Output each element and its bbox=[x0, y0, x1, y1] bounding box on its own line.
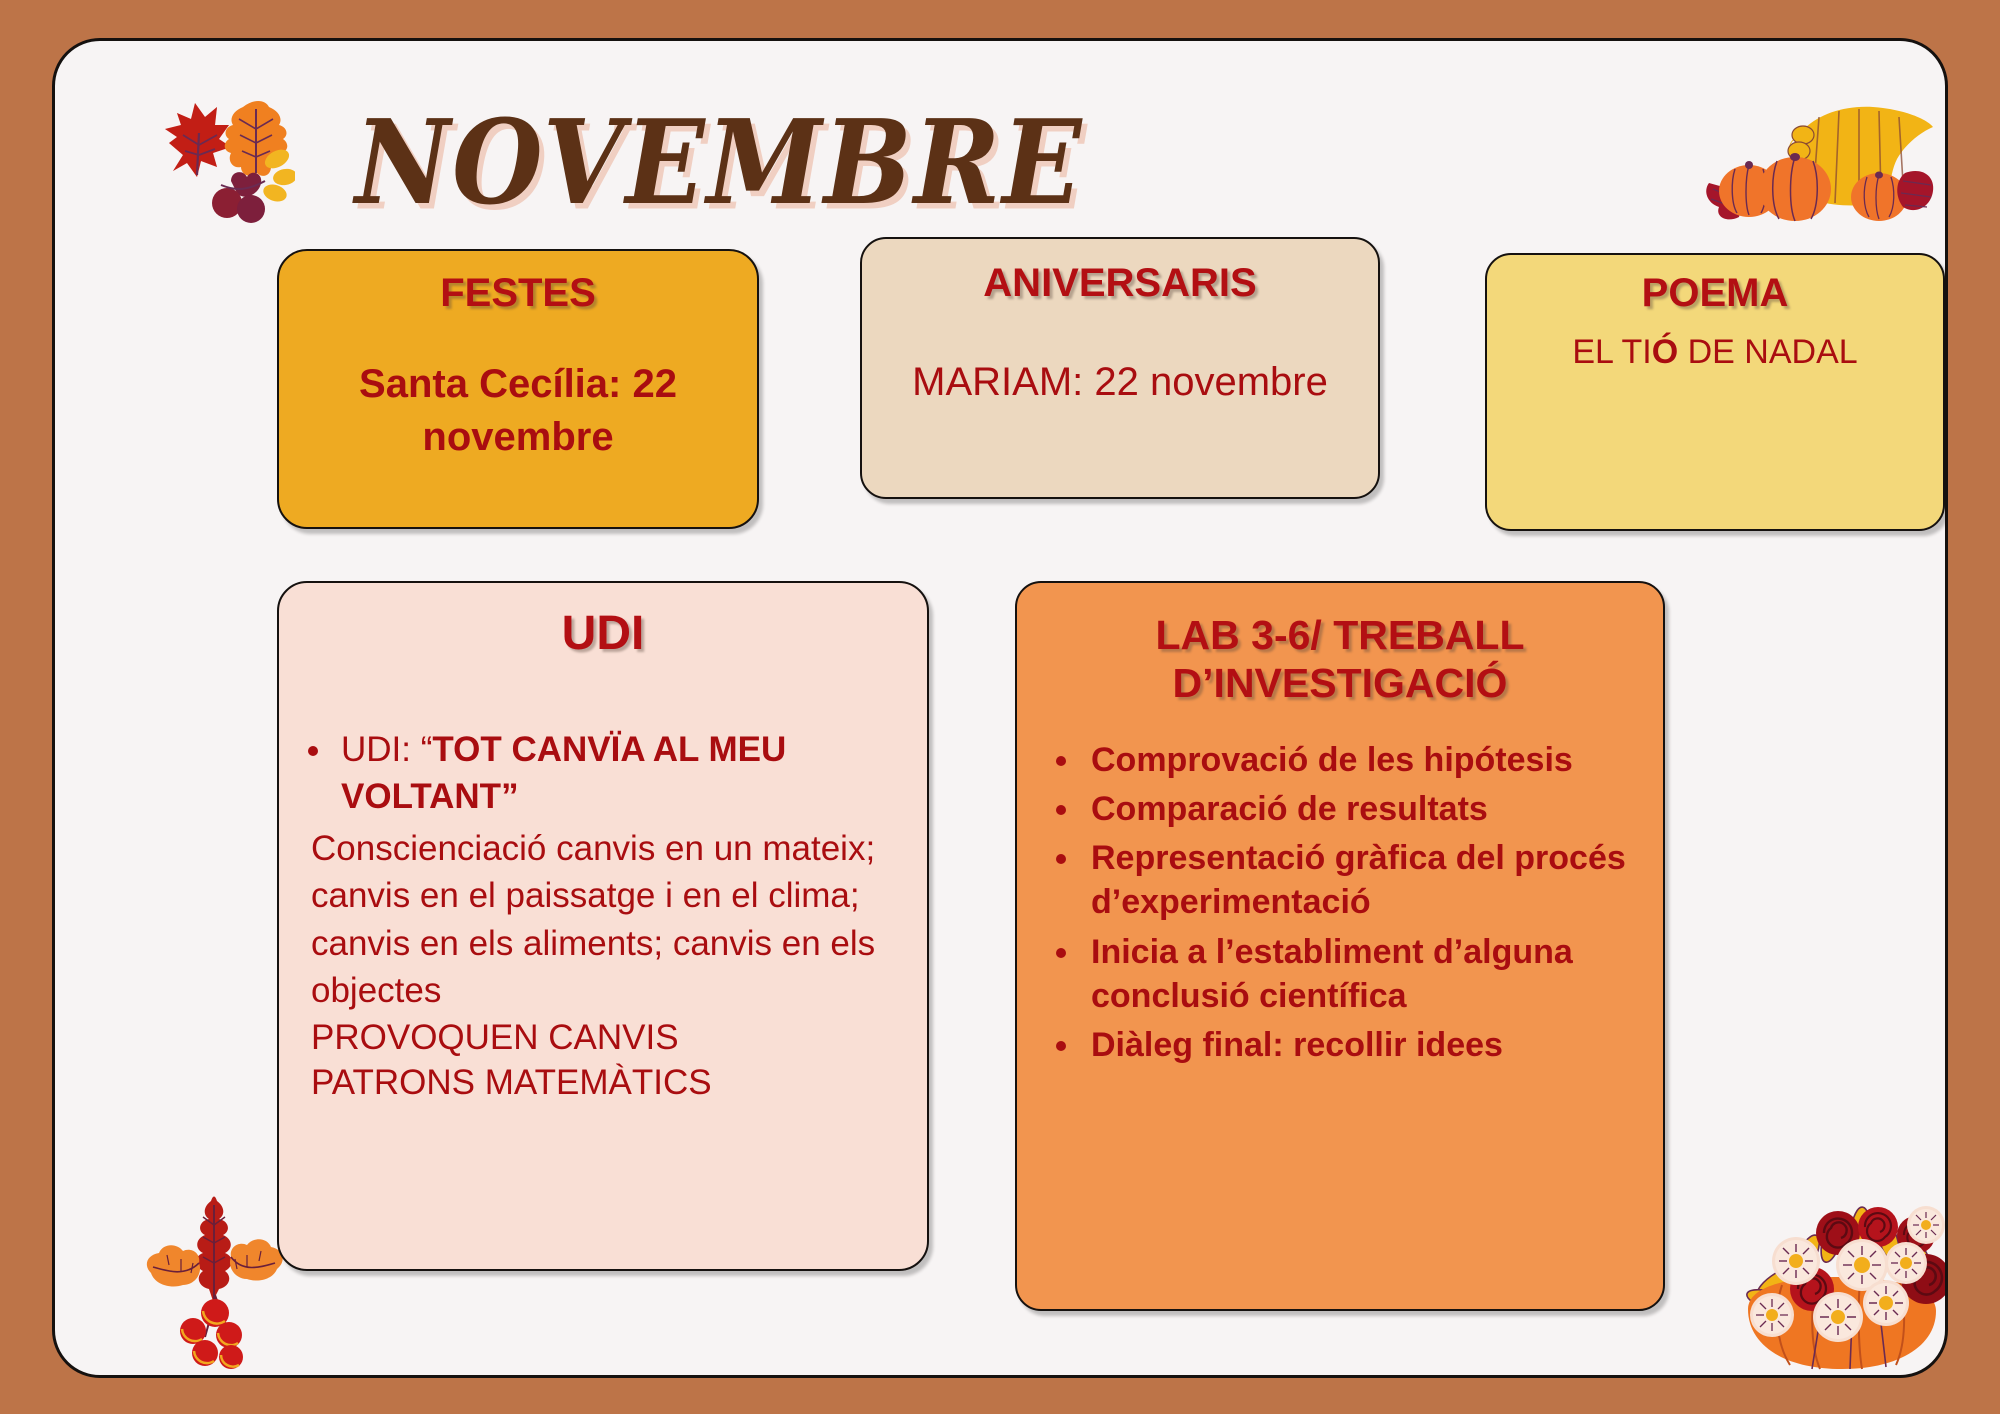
lab-title-line-2-prefix: D’INVESTIGACI bbox=[1173, 660, 1476, 706]
lab-bullet-list: Comprovació de les hipótesis Comparació … bbox=[1017, 738, 1663, 1067]
lab-title-line-2-accent: Ó bbox=[1476, 660, 1508, 706]
card-aniversaris-title: ANIVERSARIS bbox=[862, 261, 1378, 306]
card-udi-title: UDI bbox=[279, 607, 927, 661]
card-festes-title: FESTES bbox=[279, 271, 757, 316]
poema-text-suffix: DE NADAL bbox=[1678, 333, 1858, 371]
card-poema-title: POEMA bbox=[1487, 271, 1943, 316]
list-item: Diàleg final: recollir idees bbox=[1083, 1023, 1639, 1067]
pumpkin-flower-basket-icon bbox=[1720, 1169, 1948, 1378]
list-item: Comprovació de les hipótesis bbox=[1083, 738, 1639, 782]
page-title: NOVEMBRE bbox=[355, 93, 1084, 231]
poema-text-accent: Ó bbox=[1652, 333, 1678, 371]
lab-title-line-1: LAB 3-6/ TREBALL bbox=[1156, 612, 1525, 658]
udi-bullet-list: UDI: “TOT CANVÏA AL MEU VOLTANT” bbox=[279, 727, 927, 821]
autumn-leaves-berries-icon bbox=[125, 85, 295, 235]
list-item: Inicia a l’establiment d’alguna conclusi… bbox=[1083, 930, 1639, 1018]
card-poema[interactable]: POEMA EL TIÓ DE NADAL bbox=[1485, 253, 1945, 531]
card-poema-body: EL TIÓ DE NADAL bbox=[1487, 330, 1943, 375]
card-festes[interactable]: FESTES Santa Cecília: 22 novembre bbox=[277, 249, 759, 529]
list-item: Representació gràfica del procés d’exper… bbox=[1083, 836, 1639, 924]
poema-text-prefix: EL TI bbox=[1572, 333, 1651, 371]
card-aniversaris-body: MARIAM: 22 novembre bbox=[862, 356, 1378, 409]
udi-plain-line-2: PATRONS MATEMÀTICS bbox=[311, 1060, 927, 1106]
card-lab[interactable]: LAB 3-6/ TREBALL D’INVESTIGACIÓ Comprova… bbox=[1015, 581, 1665, 1311]
card-aniversaris[interactable]: ANIVERSARIS MARIAM: 22 novembre bbox=[860, 237, 1380, 499]
poster-panel: NOVEMBRE bbox=[52, 38, 1948, 1378]
udi-paragraph: Conscienciació canvis en un mateix; canv… bbox=[311, 825, 927, 1015]
cornucopia-pumpkins-icon bbox=[1687, 97, 1937, 227]
list-item: UDI: “TOT CANVÏA AL MEU VOLTANT” bbox=[335, 727, 927, 821]
udi-bullet-prefix: UDI: “ bbox=[341, 730, 432, 769]
list-item: Comparació de resultats bbox=[1083, 787, 1639, 831]
card-festes-body: Santa Cecília: 22 novembre bbox=[279, 358, 757, 464]
card-udi[interactable]: UDI UDI: “TOT CANVÏA AL MEU VOLTANT” Con… bbox=[277, 581, 929, 1271]
card-lab-title: LAB 3-6/ TREBALL D’INVESTIGACIÓ bbox=[1017, 611, 1663, 708]
udi-plain-line-1: PROVOQUEN CANVIS bbox=[311, 1015, 927, 1061]
